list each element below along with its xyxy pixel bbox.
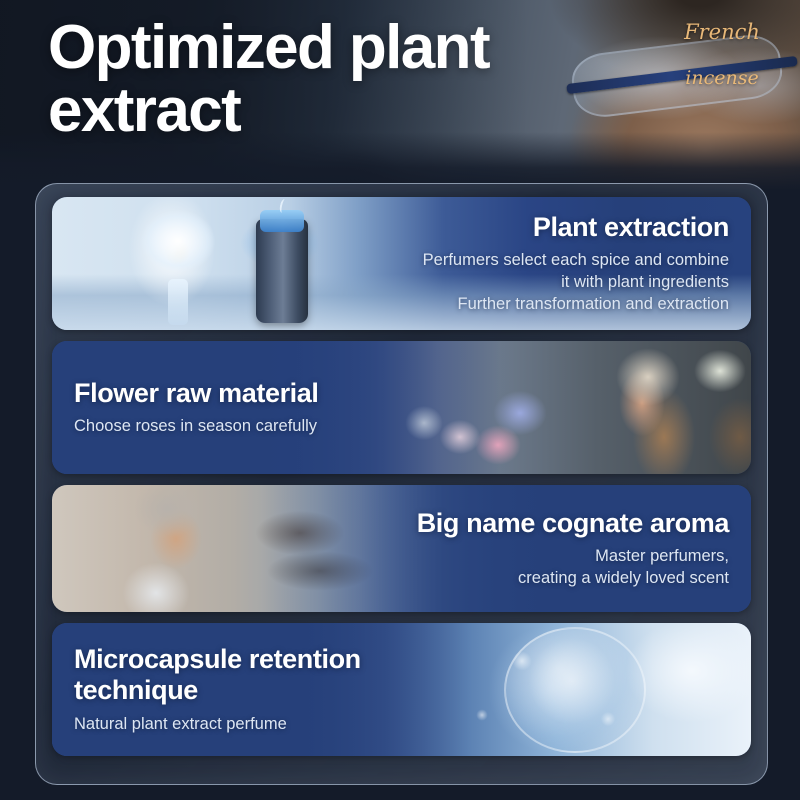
card-content: Big name cognate aroma Master perfumers,… <box>52 485 751 612</box>
card-description: Natural plant extract perfume <box>74 713 287 735</box>
poster-root: Optimized plant extract French incense P… <box>0 0 800 800</box>
card-content: Flower raw material Choose roses in seas… <box>52 341 751 474</box>
feature-card-plant-extraction[interactable]: Plant extraction Perfumers select each s… <box>52 197 751 330</box>
feature-card-flower-raw-material[interactable]: Flower raw material Choose roses in seas… <box>52 341 751 474</box>
card-title: Flower raw material <box>74 378 319 408</box>
card-title: Big name cognate aroma <box>417 508 729 538</box>
card-description-line-1: Perfumers select each spice and combine <box>423 251 729 269</box>
card-description-line-2: it with plant ingredients <box>561 273 729 291</box>
card-description-line-2: creating a widely loved scent <box>518 569 729 587</box>
brand-script-line-1: French <box>684 20 760 44</box>
feature-cards-panel: Plant extraction Perfumers select each s… <box>35 183 768 785</box>
page-title-line-2: extract <box>48 79 608 142</box>
hero-banner: Optimized plant extract French incense <box>0 0 800 190</box>
card-description-line-1: Natural plant extract perfume <box>74 715 287 733</box>
card-title-line-2: technique <box>74 675 198 705</box>
card-title: Microcapsule retention technique <box>74 644 361 706</box>
brand-script-line-2: incense <box>662 69 782 88</box>
card-description: Perfumers select each spice and combine … <box>423 249 729 315</box>
card-description: Master perfumers, creating a widely love… <box>518 545 729 589</box>
feature-card-microcapsule-retention-technique[interactable]: Microcapsule retention technique Natural… <box>52 623 751 756</box>
brand-script-mark: French incense <box>662 22 782 88</box>
card-content: Plant extraction Perfumers select each s… <box>52 197 751 330</box>
card-title-line-1: Microcapsule retention <box>74 644 361 674</box>
card-description-line-1: Choose roses in season carefully <box>74 417 317 435</box>
feature-card-big-name-cognate-aroma[interactable]: Big name cognate aroma Master perfumers,… <box>52 485 751 612</box>
card-description-line-3: Further transformation and extraction <box>458 295 729 313</box>
card-description-line-1: Master perfumers, <box>595 547 729 565</box>
card-content: Microcapsule retention technique Natural… <box>52 623 751 756</box>
page-title-line-1: Optimized plant <box>48 13 489 82</box>
card-description: Choose roses in season carefully <box>74 415 317 437</box>
page-title: Optimized plant extract <box>48 16 608 142</box>
card-title: Plant extraction <box>533 212 729 242</box>
